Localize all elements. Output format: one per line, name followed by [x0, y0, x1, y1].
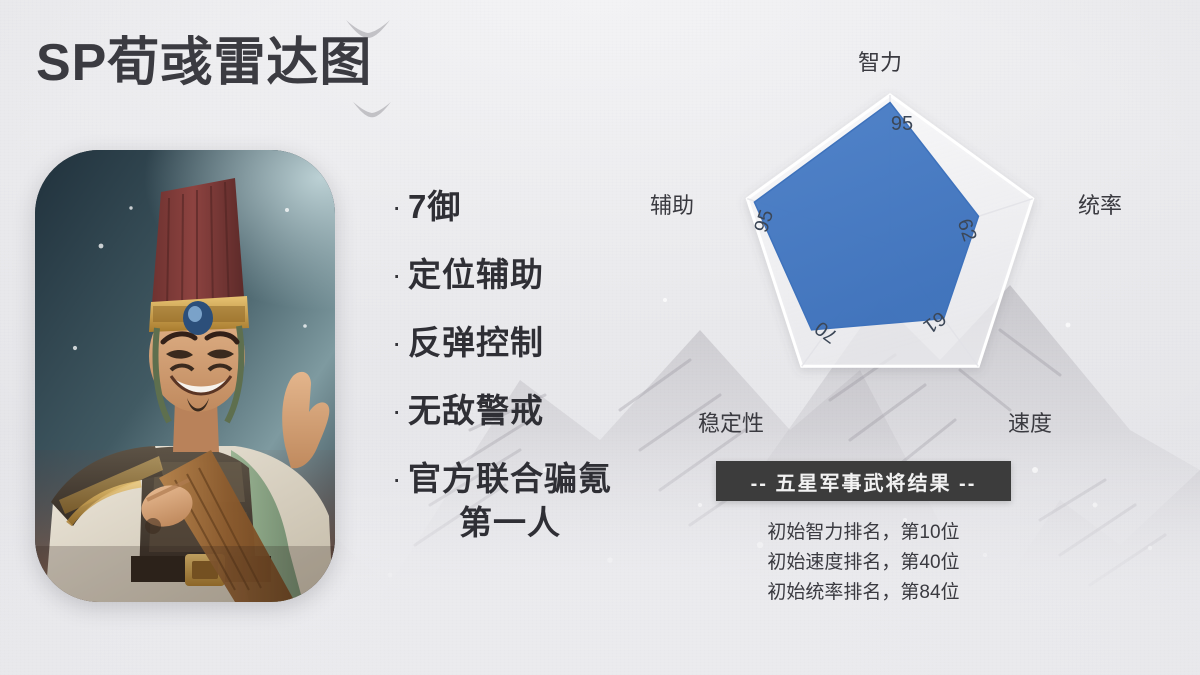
slide-root: SP荀彧雷达图: [0, 0, 1200, 675]
result-rank-list: 初始智力排名，第10位 初始速度排名，第40位 初始统率排名，第84位: [716, 518, 1011, 608]
bullet-marker-icon: ·: [392, 321, 408, 365]
radar-chart: 95 62 61 70 95 智力 统率 速度 稳定性 辅助: [630, 20, 1160, 440]
radar-axis-label-fuzhu: 辅助: [650, 188, 694, 220]
radar-value-zhili: 95: [891, 113, 913, 135]
portrait-illustration: [35, 150, 335, 602]
bullet-label-line2: 第一人: [408, 501, 612, 545]
result-banner-label: -- 五星军事武将结果 --: [751, 467, 977, 496]
bullet-label: 反弹控制: [408, 321, 544, 365]
radar-axis-label-zhili: 智力: [858, 45, 902, 77]
radar-axis-label-wendingxing: 稳定性: [698, 406, 764, 438]
list-item: · 官方联合骗氪第一人: [392, 457, 672, 545]
radar-chart-svg: 95 62 61 70 95: [630, 20, 1160, 440]
page-title: SP荀彧雷达图: [36, 32, 372, 94]
bullet-marker-icon: ·: [392, 185, 408, 229]
bullet-label: 定位辅助: [408, 253, 544, 297]
bullet-label: 无敌警戒: [408, 389, 544, 433]
bullet-label-line1: 官方联合骗氪: [408, 460, 612, 497]
bullet-label: 官方联合骗氪第一人: [408, 457, 612, 545]
bullet-marker-icon: ·: [392, 389, 408, 433]
bullet-label: 7御: [408, 185, 461, 229]
result-rank-row: 初始统率排名，第84位: [716, 578, 1011, 608]
character-portrait-card: [35, 150, 335, 602]
result-rank-row: 初始速度排名，第40位: [716, 548, 1011, 578]
bullet-marker-icon: ·: [392, 253, 408, 297]
result-rank-row: 初始智力排名，第10位: [716, 518, 1011, 548]
radar-axis-label-tongshuai: 统率: [1078, 188, 1122, 220]
radar-axis-label-sudu: 速度: [1008, 406, 1052, 438]
bullet-marker-icon: ·: [392, 457, 408, 501]
bird-icon: [352, 100, 392, 119]
result-banner: -- 五星军事武将结果 --: [716, 461, 1011, 501]
